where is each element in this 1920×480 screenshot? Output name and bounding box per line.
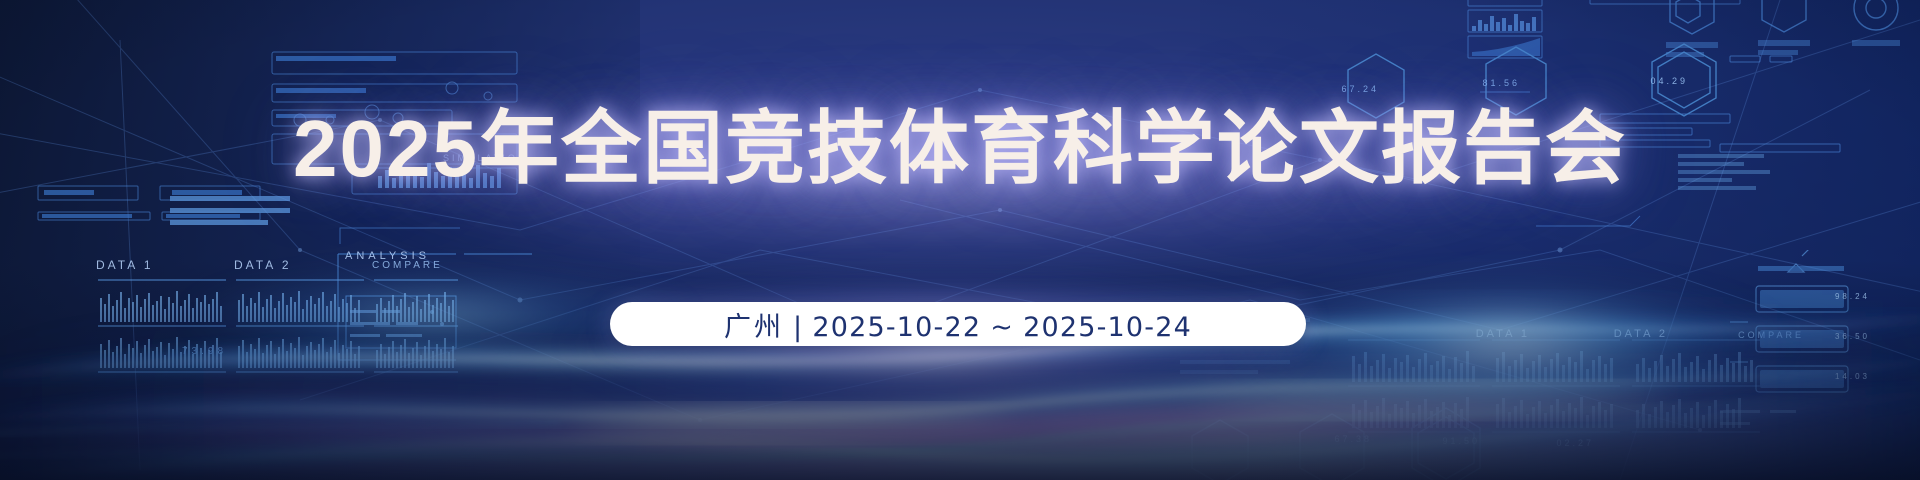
bottom-shadow-overlay [0, 260, 1920, 480]
hud-hex-value-3: 04.29 [1650, 76, 1688, 86]
page-title: 2025年全国竞技体育科学论文报告会 [0, 104, 1920, 194]
conference-banner: SIMULATION ANALYSIS [0, 0, 1920, 480]
title-block: 2025年全国竞技体育科学论文报告会 [0, 104, 1920, 194]
pill-separator: | [784, 312, 812, 343]
hud-hex-value-1: 67.24 [1341, 84, 1379, 94]
hud-hex-value-2: 81.56 [1482, 78, 1520, 88]
pill-range-symbol: ~ [981, 312, 1023, 343]
event-start-date: 2025-10-22 [812, 312, 981, 343]
event-end-date: 2025-10-24 [1023, 312, 1192, 343]
event-city: 广州 [724, 312, 784, 343]
event-info-pill: 广州|2025-10-22~2025-10-24 [610, 302, 1306, 346]
